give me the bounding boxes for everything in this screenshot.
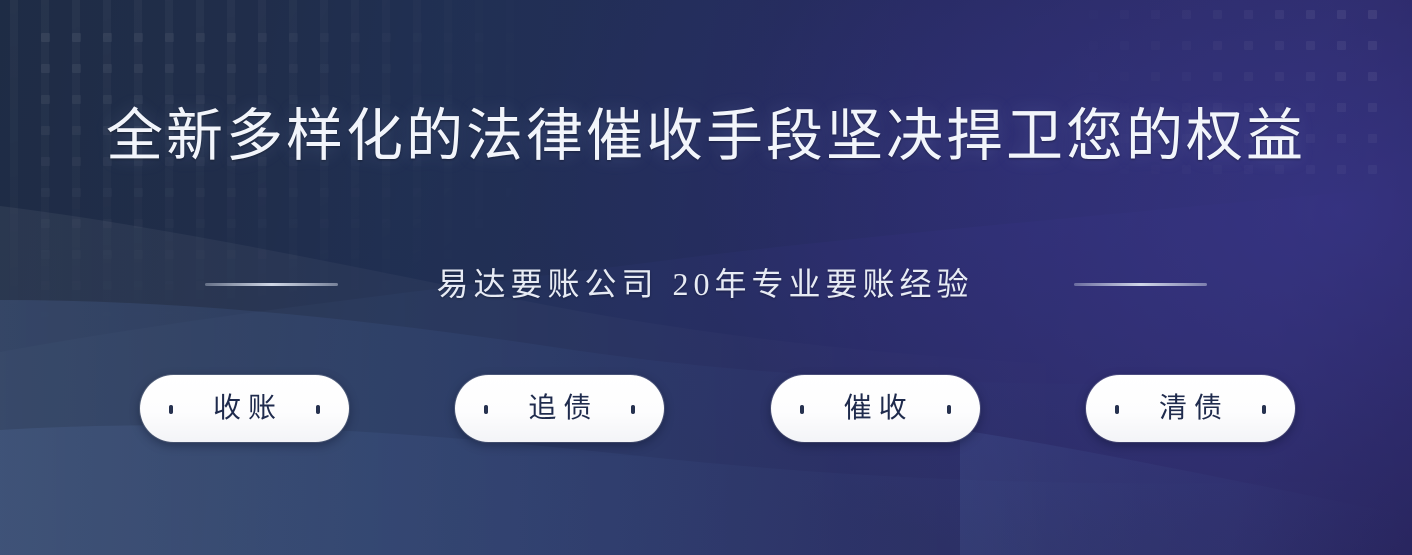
bullet-dot-left-icon xyxy=(169,405,173,414)
subtitle-text: 易达要账公司20年专业要账经验 xyxy=(436,268,973,300)
divider-line-left xyxy=(205,283,338,286)
service-tag-label: 收账 xyxy=(206,395,283,423)
subtitle-row: 易达要账公司20年专业要账经验 xyxy=(0,268,1412,300)
experience-text: 20年专业要账经验 xyxy=(673,266,974,302)
service-tag-label: 催收 xyxy=(837,395,914,423)
service-tag-shouzhang[interactable]: 收账 xyxy=(140,375,349,442)
bullet-dot-right-icon xyxy=(1262,405,1266,414)
service-tag-list: 收账 追债 催收 清债 xyxy=(140,375,1295,442)
page-title: 全新多样化的法律催收手段坚决捍卫您的权益 xyxy=(0,108,1412,165)
bullet-dot-right-icon xyxy=(947,405,951,414)
divider-line-right xyxy=(1074,283,1207,286)
bullet-dot-left-icon xyxy=(1115,405,1119,414)
bullet-dot-right-icon xyxy=(316,405,320,414)
service-tag-cuishou[interactable]: 催收 xyxy=(771,375,980,442)
company-name: 易达要账公司 xyxy=(436,266,658,302)
bullet-dot-left-icon xyxy=(800,405,804,414)
service-tag-label: 清债 xyxy=(1152,395,1229,423)
service-tag-zhuizhai[interactable]: 追债 xyxy=(455,375,664,442)
banner-content: 全新多样化的法律催收手段坚决捍卫您的权益 易达要账公司20年专业要账经验 收账 … xyxy=(0,0,1412,555)
service-tag-label: 追债 xyxy=(521,395,598,423)
service-tag-qingzhai[interactable]: 清债 xyxy=(1086,375,1295,442)
promo-banner: 全新多样化的法律催收手段坚决捍卫您的权益 易达要账公司20年专业要账经验 收账 … xyxy=(0,0,1412,555)
bullet-dot-right-icon xyxy=(631,405,635,414)
bullet-dot-left-icon xyxy=(484,405,488,414)
